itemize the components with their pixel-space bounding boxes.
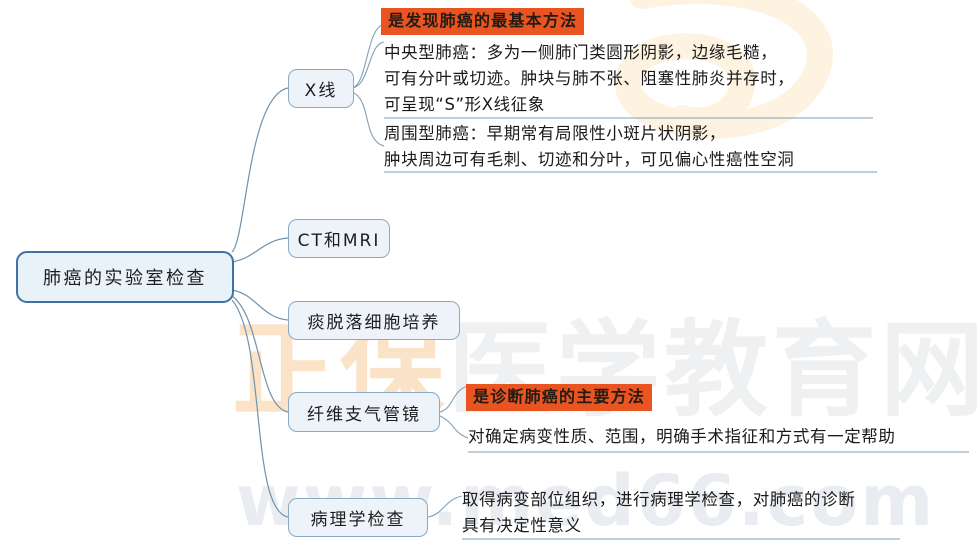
- leaf-line: 周围型肺癌：早期常有局限性小斑片状阴影，: [384, 121, 880, 147]
- branch-node-sputum-label: 痰脱落细胞培养: [308, 308, 441, 333]
- leaf-line: 取得病变部位组织，进行病理学检查，对肺癌的诊断: [462, 487, 902, 513]
- leaf-line: 对确定病变性质、范围，明确手术指征和方式有一定帮助: [468, 424, 972, 450]
- watermark-brand-gray: 医学教育网: [448, 309, 980, 431]
- link-bronchoscope-to-badge: [440, 386, 468, 412]
- branch-node-sputum[interactable]: 痰脱落细胞培养: [288, 301, 460, 340]
- link-root-to-pathology: [232, 300, 288, 517]
- link-xray-to-central: [352, 42, 384, 88]
- leaf-bronchoscope-help: 对确定病变性质、范围，明确手术指征和方式有一定帮助: [468, 424, 972, 450]
- branch-node-pathology-label: 病理学检查: [311, 505, 406, 530]
- branch-node-ctmri-label: CT和MRI: [298, 226, 381, 251]
- root-node-label: 肺癌的实验室检查: [43, 264, 207, 290]
- link-xray-to-badge: [352, 24, 384, 88]
- branch-node-bronchoscope-label: 纤维支气管镜: [307, 400, 421, 425]
- link-root-to-sputum: [232, 290, 288, 320]
- branch-node-xray-label: X线: [305, 76, 338, 101]
- badge-xray-basic-method-text: 是发现肺癌的最基本方法: [388, 11, 577, 30]
- leaf-line: 具有决定性意义: [462, 513, 902, 539]
- mindmap-canvas: 正保医学教育网 www.med66.com 肺癌的实验室检查 X线 CT和MRI: [0, 0, 980, 549]
- leaf-pathology-decisive: 取得病变部位组织，进行病理学检查，对肺癌的诊断 具有决定性意义: [462, 487, 902, 539]
- link-root-to-xray: [232, 88, 288, 252]
- link-pathology-to-leaf: [428, 496, 462, 517]
- link-root-to-bronchoscope: [232, 296, 288, 412]
- branch-node-pathology[interactable]: 病理学检查: [288, 498, 428, 537]
- badge-xray-basic-method: 是发现肺癌的最基本方法: [381, 8, 584, 35]
- branch-node-bronchoscope[interactable]: 纤维支气管镜: [288, 392, 440, 432]
- leaf-line: 肿块周边可有毛刺、切迹和分叶，可见偏心性癌性空洞: [384, 147, 880, 173]
- link-root-to-ctmri: [232, 238, 288, 262]
- branch-node-ctmri[interactable]: CT和MRI: [288, 219, 390, 258]
- root-node[interactable]: 肺癌的实验室检查: [16, 251, 234, 303]
- leaf-line: 可呈现“S”形X线征象: [384, 92, 876, 118]
- leaf-peripheral-type-lung-cancer: 周围型肺癌：早期常有局限性小斑片状阴影， 肿块周边可有毛刺、切迹和分叶，可见偏心…: [384, 121, 880, 173]
- leaf-line: 可有分叶或切迹。肿块与肺不张、阻塞性肺炎并存时，: [384, 66, 876, 92]
- branch-node-xray[interactable]: X线: [288, 69, 354, 108]
- leaf-central-type-lung-cancer: 中央型肺癌：多为一侧肺门类圆形阴影，边缘毛糙， 可有分叶或切迹。肿块与肺不张、阻…: [384, 40, 876, 118]
- badge-bronchoscope-main-method-text: 是诊断肺癌的主要方法: [473, 387, 645, 406]
- link-xray-to-peripheral: [352, 92, 384, 146]
- leaf-line: 中央型肺癌：多为一侧肺门类圆形阴影，边缘毛糙，: [384, 40, 876, 66]
- badge-bronchoscope-main-method: 是诊断肺癌的主要方法: [466, 384, 652, 411]
- link-bronchoscope-to-leaf: [440, 416, 468, 438]
